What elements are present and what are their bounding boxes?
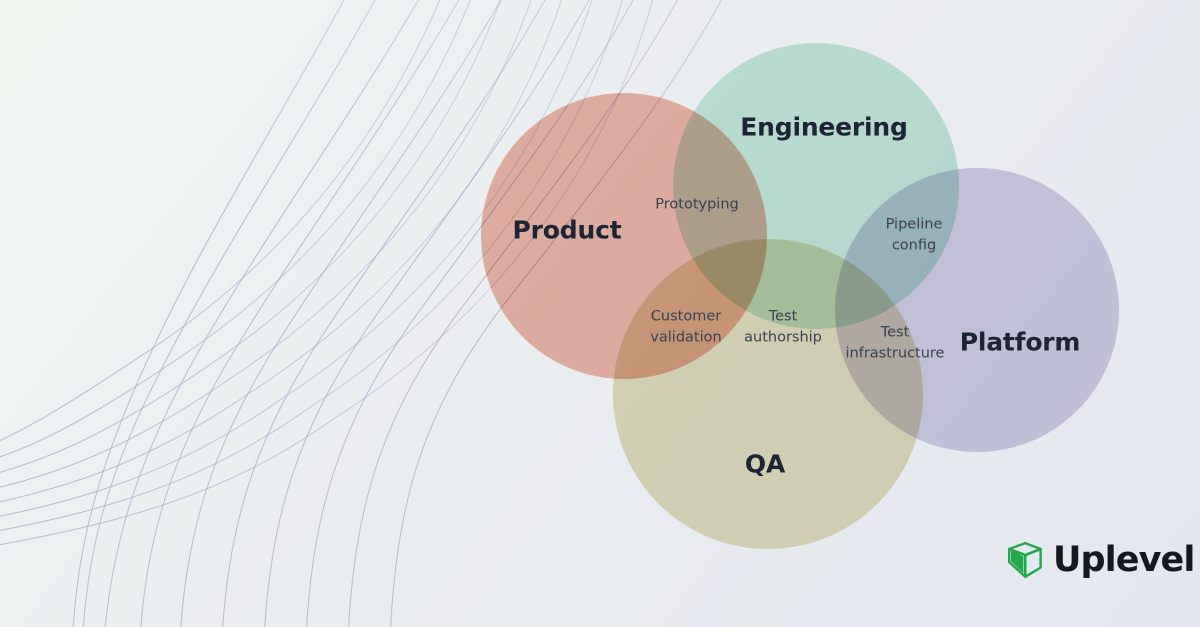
logo-wordmark: Uplevel bbox=[1053, 543, 1194, 578]
cube-icon bbox=[1006, 540, 1044, 580]
venn-diagram-canvas: Product Engineering Platform QA Prototyp… bbox=[0, 0, 1200, 627]
venn-label-product: Product bbox=[513, 217, 622, 246]
uplevel-logo[interactable]: Uplevel bbox=[1006, 540, 1194, 580]
venn-overlap-label-pipeline-config: Pipeline config bbox=[886, 214, 943, 255]
venn-label-qa: QA bbox=[745, 451, 785, 480]
venn-overlap-label-test-authorship: Test authorship bbox=[744, 306, 822, 347]
venn-circle-qa[interactable] bbox=[613, 239, 923, 549]
venn-overlap-label-customer-validation: Customer validation bbox=[650, 306, 721, 347]
venn-label-platform: Platform bbox=[960, 329, 1081, 358]
venn-label-engineering: Engineering bbox=[740, 114, 907, 143]
venn-overlap-label-prototyping: Prototyping bbox=[655, 195, 738, 216]
venn-overlap-label-test-infrastructure: Test infrastructure bbox=[846, 322, 945, 363]
venn-circles-group bbox=[0, 0, 1200, 627]
